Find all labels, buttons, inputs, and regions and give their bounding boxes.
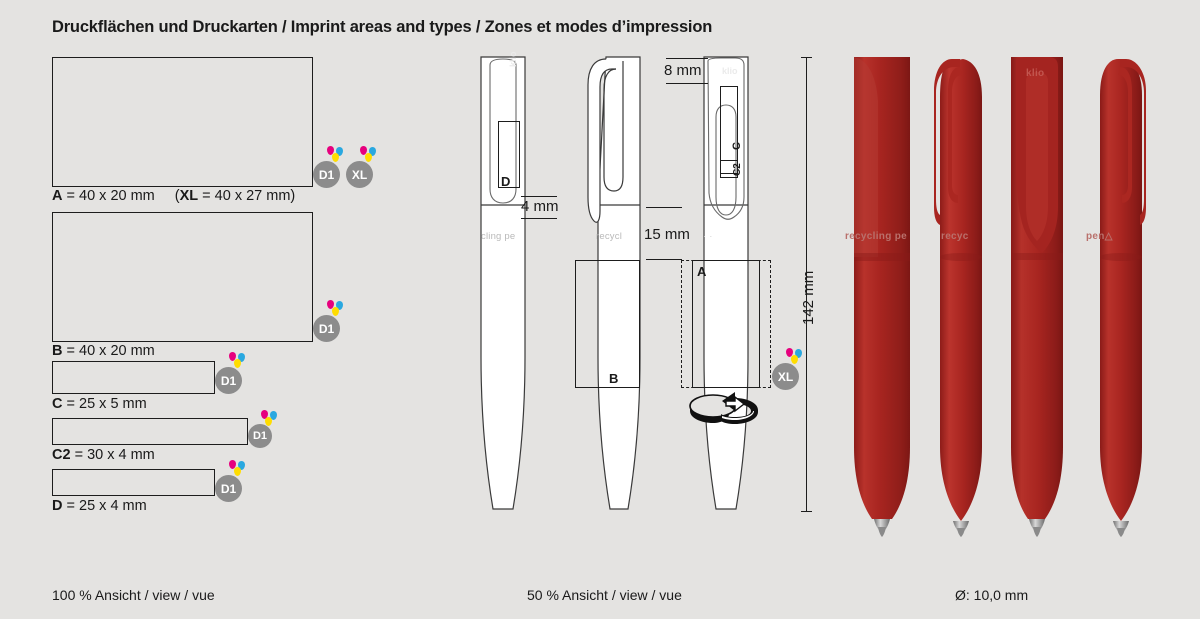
badge-circle-d1: D1 — [313, 315, 340, 342]
yellow-drop-icon — [365, 153, 372, 162]
print-zone-b — [575, 260, 640, 388]
pen-body-branding-side: recycl — [596, 231, 622, 242]
badge-circle-d1: D1 — [215, 367, 242, 394]
dim-cap-bottom-142mm — [801, 511, 812, 512]
print-area-label-c2: C2 = 30 x 4 mm — [52, 447, 155, 463]
footer-scale-left: 100 % Ansicht / view / vue — [52, 587, 215, 603]
print-area-code-xl: XL — [180, 188, 199, 204]
triangle-icon: △ — [1105, 231, 1113, 242]
print-area-box-c — [52, 361, 215, 394]
print-area-code-c2: C2 — [52, 447, 71, 463]
print-area-code-a: A — [52, 188, 62, 204]
print-area-dims-b: = 40 x 20 mm — [62, 343, 154, 359]
page-title: Druckflächen und Druckarten / Imprint ar… — [52, 18, 712, 37]
badge-d1-area-d: D1 — [215, 460, 243, 502]
dim-leader-15mm-top — [646, 207, 682, 208]
footer-diameter: Ø: 10,0 mm — [955, 587, 1028, 603]
print-area-dims-a: = 40 x 20 mm — [62, 188, 154, 204]
print-zone-tag-c: C — [732, 142, 743, 150]
spec-sheet: Druckflächen und Druckarten / Imprint ar… — [0, 0, 1200, 619]
print-zone-tag-d: D — [501, 175, 510, 188]
badge-circle-xl: XL — [346, 161, 373, 188]
print-area-code-b: B — [52, 343, 62, 359]
print-area-code-d: D — [52, 498, 62, 514]
pen-photo-4 — [1090, 57, 1152, 537]
print-area-box-c2 — [52, 418, 248, 445]
badge-d1-area-c: D1 — [215, 352, 243, 394]
print-area-label-a: A = 40 x 20 mm(XL = 40 x 27 mm) — [52, 188, 295, 204]
badge-circle-d1: D1 — [248, 424, 272, 448]
yellow-drop-icon — [791, 355, 798, 364]
pen-clip-logo-front: klio — [508, 51, 518, 67]
badge-d1-area-c2: D1 — [248, 410, 273, 448]
dim-label-15mm: 15 mm — [644, 226, 690, 243]
badge-xl-drawing: XL — [772, 348, 800, 390]
print-area-dims-xl: = 40 x 27 mm) — [198, 188, 295, 204]
print-zone-tag-a: A — [697, 265, 706, 278]
badge-circle-d1: D1 — [313, 161, 340, 188]
pen-photo-branding-2: recyc — [941, 231, 969, 242]
dim-label-142mm: 142 mm — [800, 271, 817, 325]
pen-photo-1 — [852, 57, 912, 537]
yellow-drop-icon — [234, 467, 241, 476]
dim-label-8mm: 8 mm — [664, 62, 702, 79]
print-zone-tag-b: B — [609, 372, 618, 385]
pen-photo-2 — [930, 57, 992, 537]
pen-photo-branding-1: recycling pe — [845, 231, 907, 242]
print-area-box-d — [52, 469, 215, 496]
print-area-dims-d: = 25 x 4 mm — [62, 498, 146, 514]
print-zone-tag-c2: C2 — [733, 163, 743, 176]
print-zone-a — [692, 260, 760, 388]
rotation-arrow-icon — [686, 392, 762, 437]
yellow-drop-icon — [332, 153, 339, 162]
pen-photo-clip-logo: klio — [1026, 68, 1044, 79]
print-area-label-c: C = 25 x 5 mm — [52, 396, 147, 412]
dim-leader-8mm-bottom — [666, 83, 708, 84]
badge-d1-area-a: D1 — [313, 146, 341, 188]
badge-xl-area-a: XL — [346, 146, 374, 188]
print-area-dims-c2: = 30 x 4 mm — [71, 447, 155, 463]
dim-label-4mm: 4 mm — [521, 198, 559, 215]
pen-body-branding-front: cling pe — [481, 231, 515, 242]
print-area-box-a — [52, 57, 313, 187]
print-area-box-b — [52, 212, 313, 342]
pen-body-branding-third: · · — [703, 231, 713, 242]
pen-photo-3 — [1008, 57, 1066, 537]
print-area-label-b: B = 40 x 20 mm — [52, 343, 155, 359]
yellow-drop-icon — [234, 359, 241, 368]
badge-d1-area-b: D1 — [313, 300, 341, 342]
print-area-code-c: C — [52, 396, 62, 412]
pen-clip-logo-third: klio — [722, 66, 738, 76]
pen-photo-branding-4-word: pen — [1086, 231, 1105, 242]
pen-photo-branding-4: pen△ — [1086, 231, 1113, 242]
footer-scale-center: 50 % Ansicht / view / vue — [527, 587, 682, 603]
yellow-drop-icon — [332, 307, 339, 316]
print-area-label-d: D = 25 x 4 mm — [52, 498, 147, 514]
dim-leader-4mm-bottom — [521, 218, 557, 219]
dim-leader-8mm-top — [666, 58, 708, 59]
badge-circle-d1: D1 — [215, 475, 242, 502]
print-area-dims-c: = 25 x 5 mm — [62, 396, 146, 412]
dim-leader-15mm-bottom — [646, 259, 682, 260]
badge-circle-xl: XL — [772, 363, 799, 390]
